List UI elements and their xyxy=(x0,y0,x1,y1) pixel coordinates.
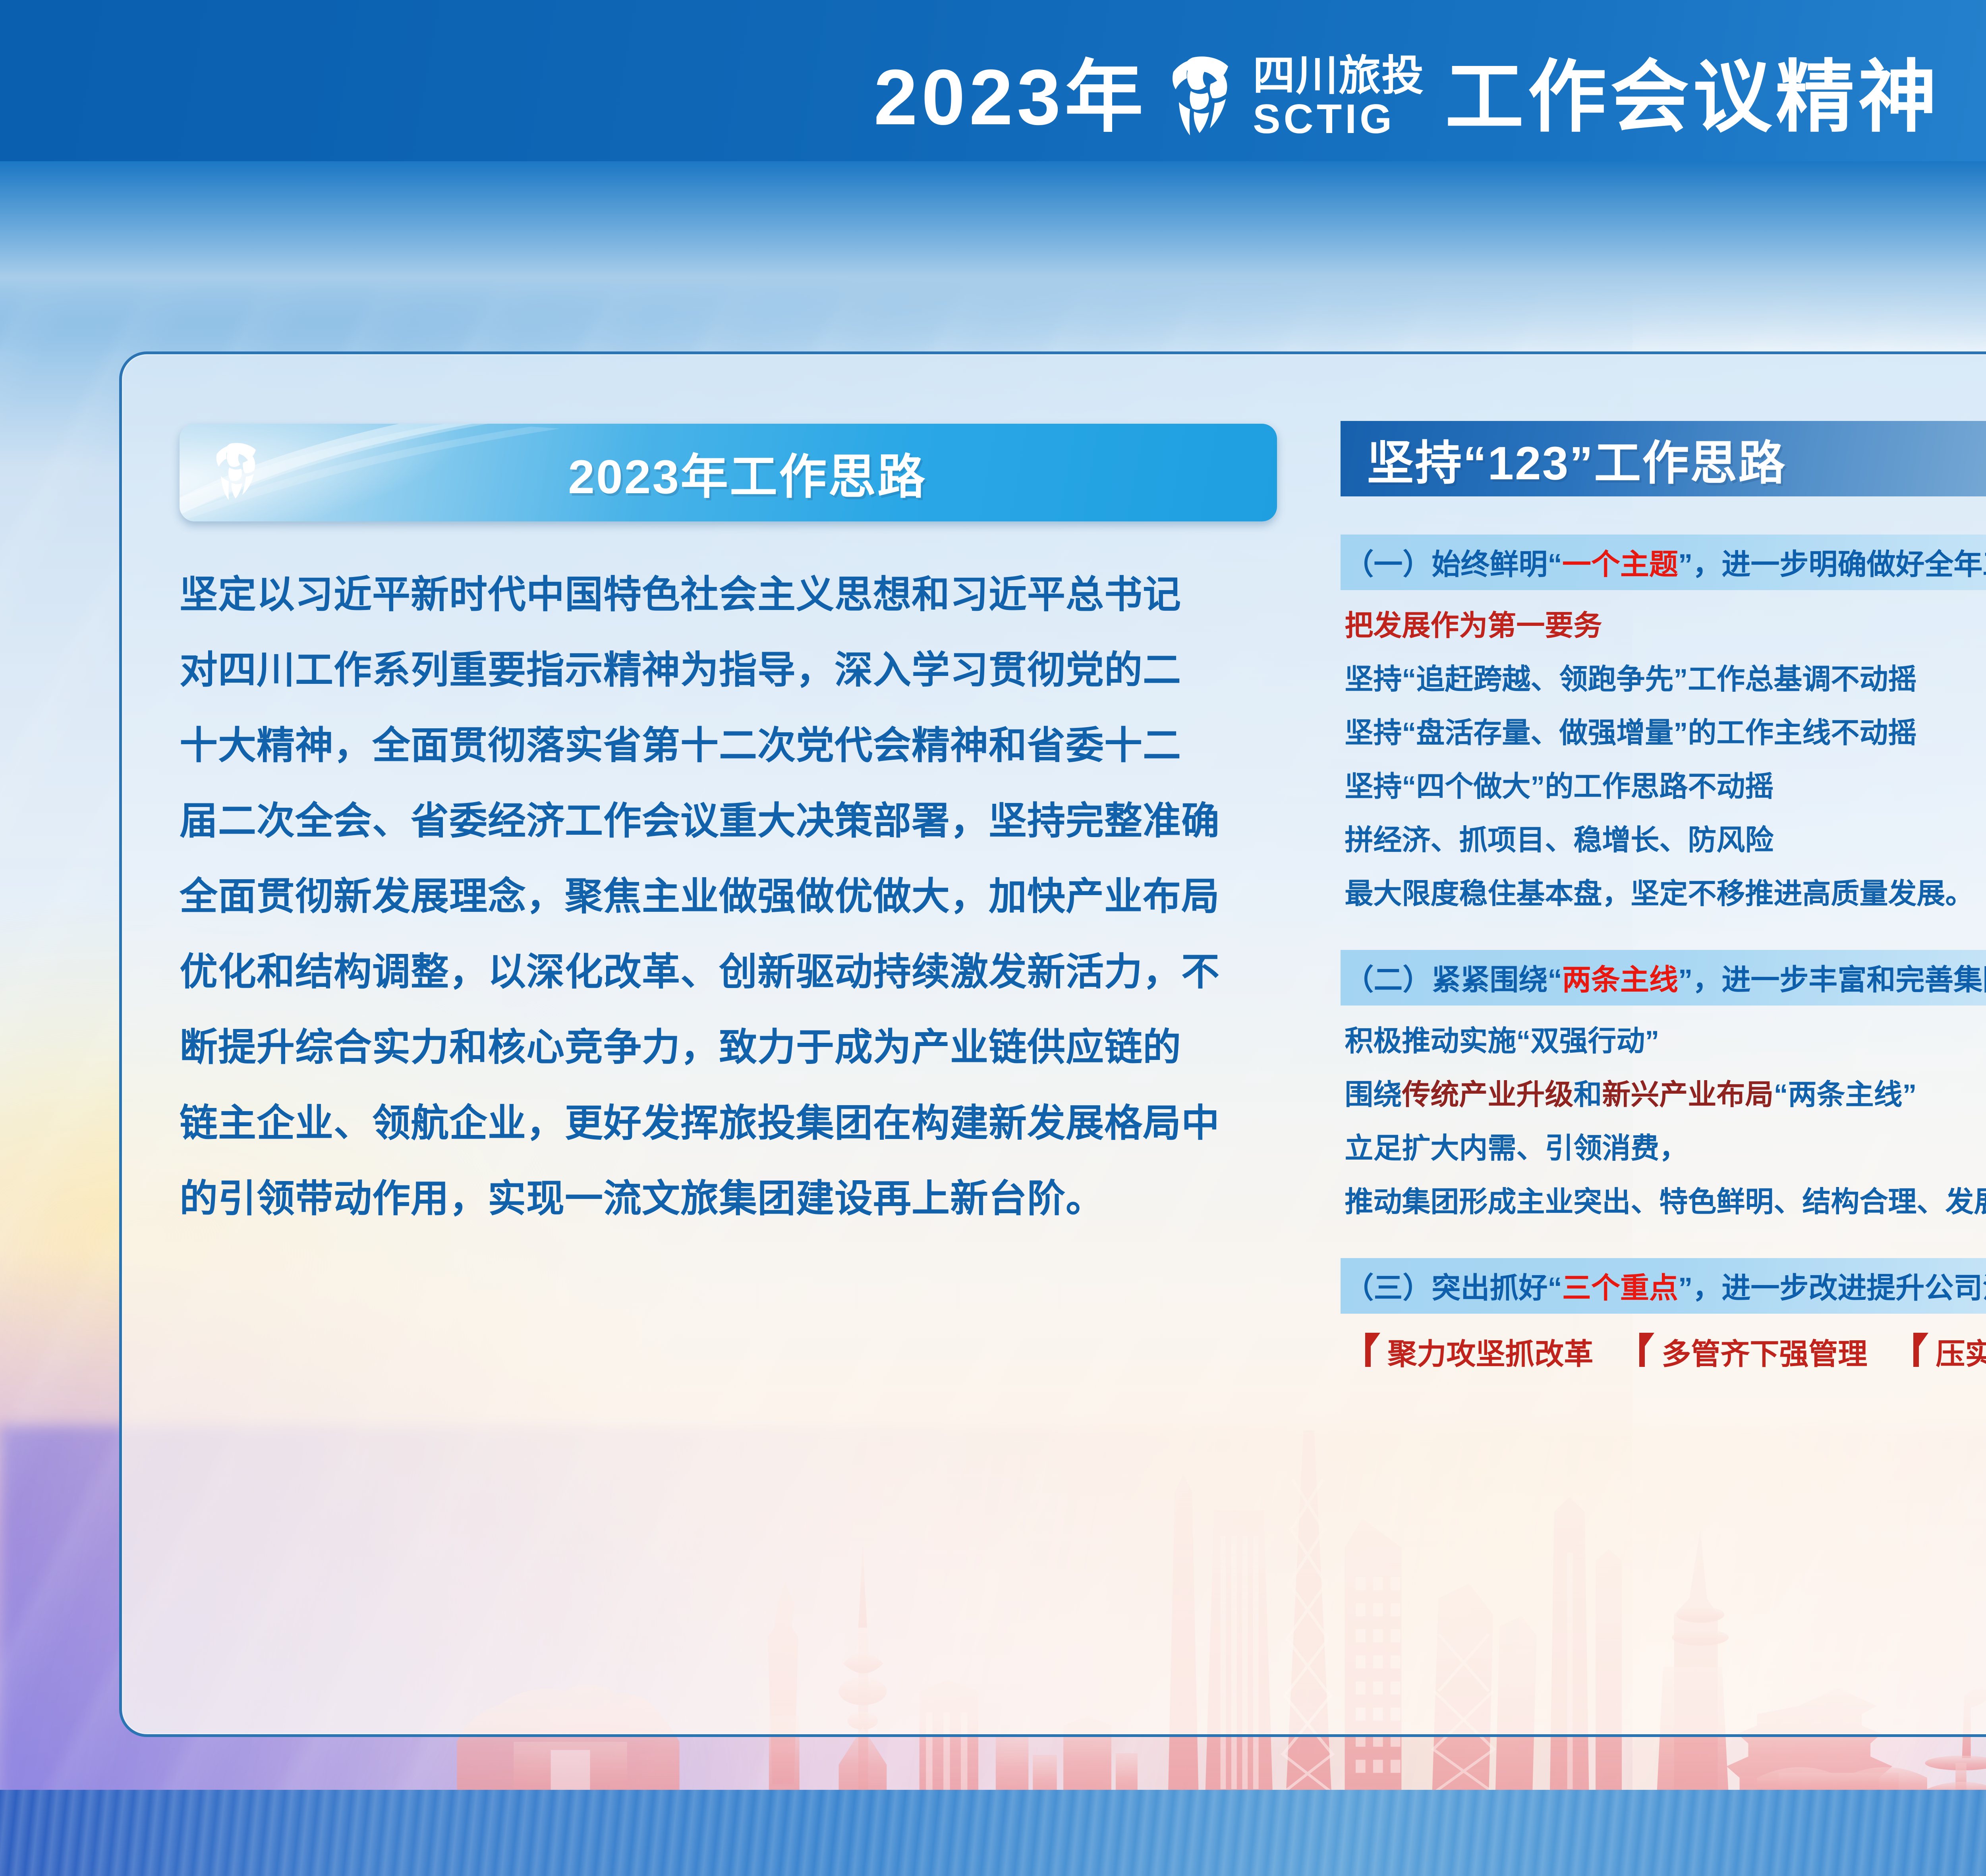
content-card: 2023年工作思路 坚定以习近平新时代中国特色社会主义思想和习近平总书记 对四川… xyxy=(119,351,1986,1737)
right-panel-header: 坚持“123”工作思路 xyxy=(1341,421,1986,496)
focus-item: 压实责任保安全 xyxy=(1912,1330,1986,1373)
brand-logo: 四川旅投 SCTIG xyxy=(1168,55,1424,140)
right-column: 坚持“123”工作思路 （一）始终鲜明“一个主题”，进一步明确做好全年工作的总体… xyxy=(1313,354,1986,1734)
paragraph-line: 断提升综合实力和核心竞争力，致力于成为产业链供应链的 xyxy=(180,1010,1277,1085)
focus-item-label: 压实责任保安全 xyxy=(1936,1330,1986,1373)
paragraph-line: 链主企业、领航企业，更好发挥旅投集团在构建新发展格局中 xyxy=(180,1086,1277,1161)
heading-suffix: ”，进一步改进提升公司治理体系和治理效能 xyxy=(1678,1272,1986,1304)
line-part: “两条主线” xyxy=(1773,1079,1916,1111)
paragraph-line: 坚定以习近平新时代中国特色社会主义思想和习近平总书记 xyxy=(180,557,1277,633)
header-title: 工作会议精神 xyxy=(1445,58,1941,137)
section-three-heading: （三）突出抓好“三个重点”，进一步改进提升公司治理体系和治理效能 xyxy=(1341,1258,1986,1314)
section-one-line: 最大限度稳住基本盘，坚定不移推进高质量发展。 xyxy=(1341,870,1986,912)
paragraph-line: 届二次全会、省委经济工作会议重大决策部署，坚持完整准确 xyxy=(180,784,1277,859)
section-one: （一）始终鲜明“一个主题”，进一步明确做好全年工作的总体要求 把发展作为第一要务… xyxy=(1341,535,1986,912)
section-one-line: 坚持“盘活存量、做强增量”的工作主线不动摇 xyxy=(1341,709,1986,751)
heading-prefix: （三）突出抓好“ xyxy=(1345,1272,1562,1304)
section-three: （三）突出抓好“三个重点”，进一步改进提升公司治理体系和治理效能 聚力攻坚抓改革 xyxy=(1341,1258,1986,1373)
section-two: （二）紧紧围绕“两条主线”，进一步丰富和完善集团高质量发展的产业格局 积极推动实… xyxy=(1341,950,1986,1220)
section-one-line: 坚持“追赶跨越、领跑争先”工作总基调不动摇 xyxy=(1341,656,1986,697)
heading-suffix: ”，进一步明确做好全年工作的总体要求 xyxy=(1678,548,1986,581)
paragraph-line: 全面贯彻新发展理念，聚焦主业做强做优做大，加快产业布局 xyxy=(180,859,1277,934)
paragraph-line: 对四川工作系列重要指示精神为指导，深入学习贯彻党的二 xyxy=(180,633,1277,708)
heading-prefix: （二）紧紧围绕“ xyxy=(1345,964,1562,996)
paragraph-line: 十大精神，全面贯彻落实省第十二次党代会精神和省委十二 xyxy=(180,708,1277,784)
left-panel-paragraph: 坚定以习近平新时代中国特色社会主义思想和习近平总书记 对四川工作系列重要指示精神… xyxy=(180,557,1277,1237)
poster-header: 2023年 四川旅投 SCTIG 工作会议精神 xyxy=(0,32,1986,163)
left-panel-title: 2023年工作思路 xyxy=(265,438,1277,507)
brand-name-en: SCTIG xyxy=(1253,98,1424,140)
focus-item: 聚力攻坚抓改革 xyxy=(1364,1330,1593,1373)
section-one-line: 把发展作为第一要务 xyxy=(1341,602,1986,644)
line-part-emphasis: 新兴产业布局 xyxy=(1602,1079,1773,1111)
brand-wordmark: 四川旅投 SCTIG xyxy=(1253,55,1424,140)
section-two-line-mixed: 围绕传统产业升级和新兴产业布局“两条主线” xyxy=(1341,1071,1986,1113)
focus-item: 多管齐下强管理 xyxy=(1638,1330,1867,1373)
left-panel-header: 2023年工作思路 xyxy=(180,424,1277,521)
heading-prefix: （一）始终鲜明“ xyxy=(1345,548,1562,581)
red-flag-bullet-icon xyxy=(1364,1330,1380,1369)
paragraph-line: 的引领带动作用，实现一流文旅集团建设再上新台阶。 xyxy=(180,1161,1277,1237)
red-flag-bullet-icon xyxy=(1912,1330,1928,1369)
line-part-emphasis: 传统产业升级 xyxy=(1402,1079,1573,1111)
brand-name-cn: 四川旅投 xyxy=(1253,55,1424,97)
header-year: 2023年 xyxy=(874,58,1147,137)
focus-item-label: 聚力攻坚抓改革 xyxy=(1387,1330,1593,1373)
right-panel-title: 坚持“123”工作思路 xyxy=(1367,425,1786,493)
background-bottom-strip xyxy=(0,1790,1986,1876)
globe-logo-icon xyxy=(1168,56,1242,139)
heading-highlight: 三个重点 xyxy=(1562,1272,1678,1304)
focus-item-label: 多管齐下强管理 xyxy=(1661,1330,1867,1373)
section-one-line: 拼经济、抓项目、稳增长、防风险 xyxy=(1341,816,1986,858)
section-one-line: 坚持“四个做大”的工作思路不动摇 xyxy=(1341,763,1986,805)
heading-suffix: ”，进一步丰富和完善集团高质量发展的产业格局 xyxy=(1678,964,1986,996)
section-two-line: 推动集团形成主业突出、特色鲜明、结构合理、发展协同的产业格局。 xyxy=(1341,1178,1986,1220)
heading-highlight: 两条主线 xyxy=(1562,964,1678,996)
background-top-fade xyxy=(0,161,1986,349)
section-two-heading: （二）紧紧围绕“两条主线”，进一步丰富和完善集团高质量发展的产业格局 xyxy=(1341,950,1986,1006)
paragraph-line: 优化和结构调整，以深化改革、创新驱动持续激发新活力，不 xyxy=(180,934,1277,1010)
focus-items-row: 聚力攻坚抓改革 多管齐下强管理 xyxy=(1341,1330,1986,1373)
section-one-heading: （一）始终鲜明“一个主题”，进一步明确做好全年工作的总体要求 xyxy=(1341,535,1986,590)
line-part: 围绕 xyxy=(1345,1079,1402,1111)
left-column: 2023年工作思路 坚定以习近平新时代中国特色社会主义思想和习近平总书记 对四川… xyxy=(122,354,1313,1734)
section-two-line: 立足扩大内需、引领消费， xyxy=(1341,1125,1986,1166)
heading-highlight: 一个主题 xyxy=(1562,548,1678,581)
section-two-line: 积极推动实施“双强行动” xyxy=(1341,1017,1986,1059)
line-part: 和 xyxy=(1573,1079,1602,1111)
globe-icon xyxy=(213,443,265,502)
red-flag-bullet-icon xyxy=(1638,1330,1654,1369)
